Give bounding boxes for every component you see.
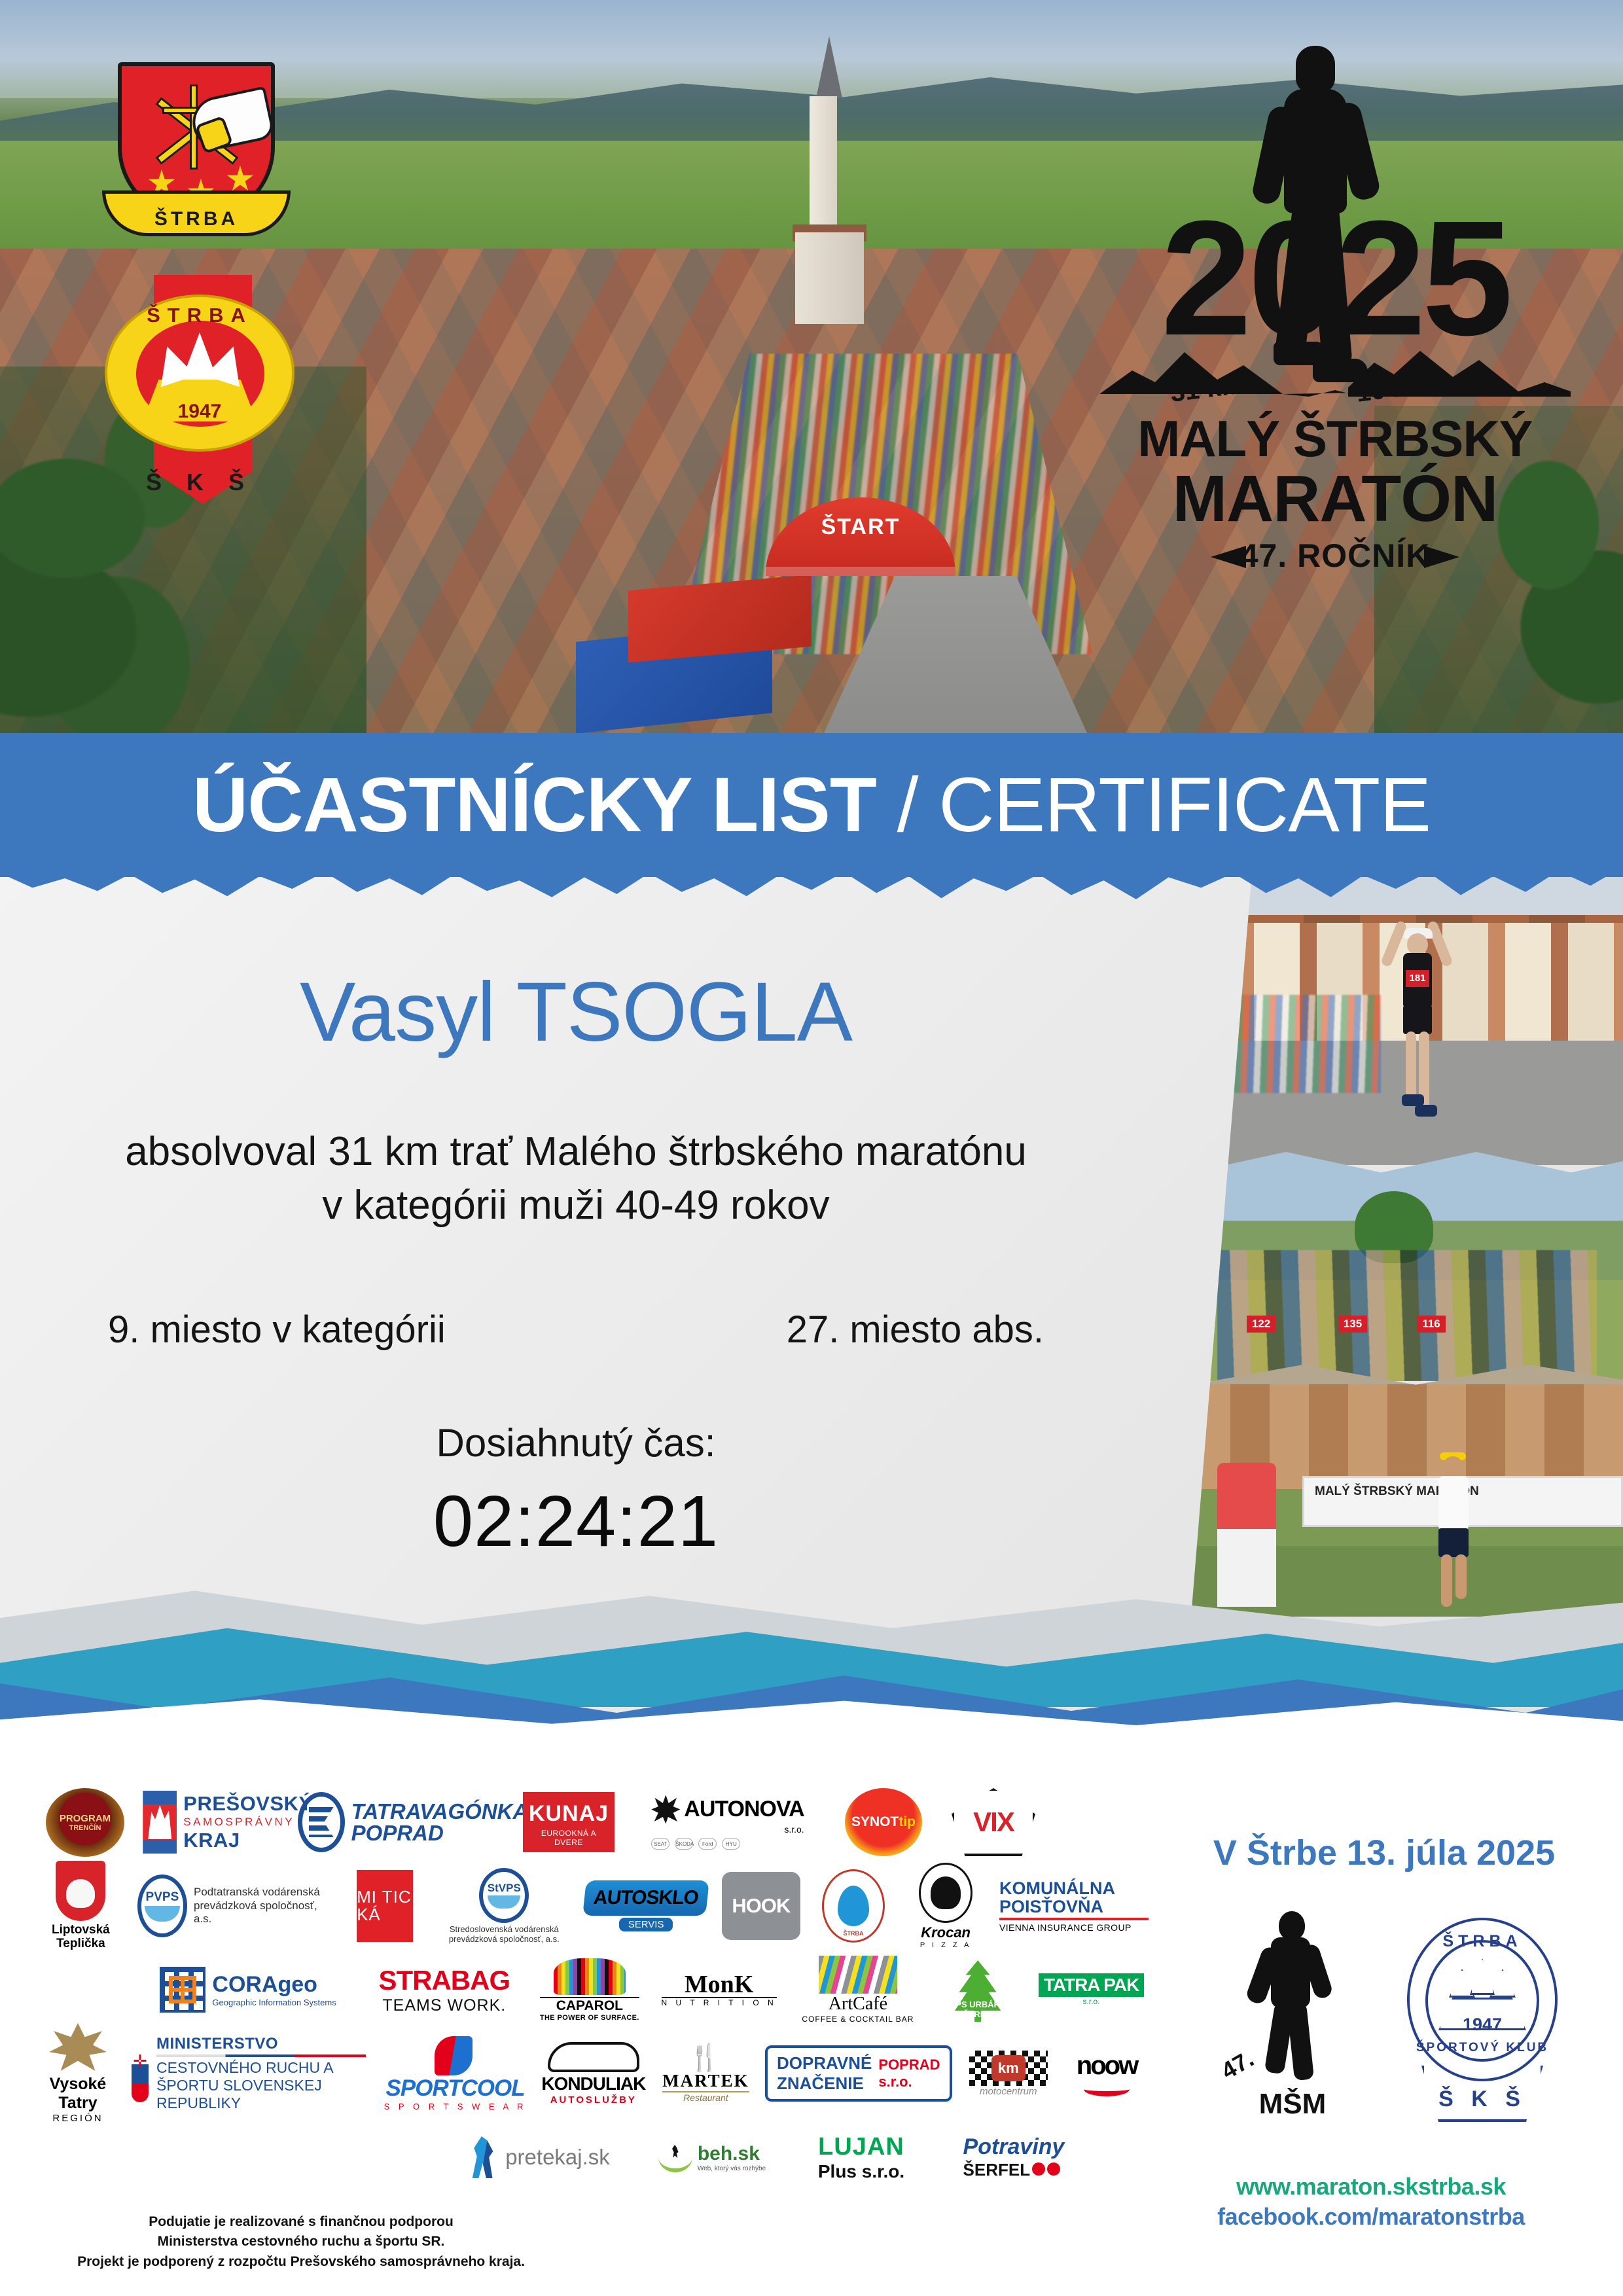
- sponsor-sub: EUROOKNÁ A DVERE: [528, 1829, 609, 1847]
- sponsor-sub: POPRAD s.r.o.: [878, 2056, 940, 2090]
- sponsor-name: km: [991, 2055, 1026, 2081]
- sponsor-sub: Geographic Information Systems: [212, 1998, 336, 2007]
- sks-year-label: 1947: [105, 401, 294, 423]
- sponsor-monk: MonK N U T R I T I O N: [655, 1953, 782, 2026]
- sponsor-name: TATRA PAK: [1039, 1973, 1145, 1997]
- sponsor-name: MonK: [662, 1972, 777, 1997]
- title-separator: /: [876, 762, 938, 848]
- sponsor-liptovska-teplicka: Liptovská Teplička: [36, 1869, 126, 1943]
- sponsor-autosklo: AUTOSKLO SERVIS: [584, 1869, 707, 1943]
- website-link[interactable]: www.maraton.skstrba.sk: [1155, 2173, 1587, 2200]
- finish-runner: [1420, 1443, 1486, 1607]
- sponsor-autonova: AUTONOVA s.r.o. SEATŠKODAFordHYU: [633, 1785, 823, 1859]
- crest-ribbon: ŠTRBA: [102, 190, 291, 236]
- finisher-runner: 181: [1387, 916, 1446, 1132]
- sponsor-sub: Podtatranská vodárenská: [194, 1886, 334, 1899]
- sponsor-sub: ŠTRBA: [824, 1930, 883, 1937]
- sponsor-name: KUNAJ: [528, 1801, 609, 1827]
- sponsor-name: PVPS: [146, 1890, 179, 1905]
- sponsor-name: ArtCafé: [802, 1994, 914, 2015]
- achievement-description: absolvoval 31 km trať Malého štrbského m…: [0, 1125, 1152, 1232]
- sponsor-row-2: Liptovská Teplička PVPS Podtatranská vod…: [36, 1864, 1149, 1948]
- bib-number: 116: [1417, 1316, 1446, 1333]
- sponsor-name: KONDULIAK: [541, 2073, 645, 2094]
- sponsor-name: STRABAG: [378, 1965, 510, 1996]
- sponsor-tatravagonka: TATRAVAGÓNKA POPRAD: [321, 1785, 505, 1859]
- finish-time-value: 02:24:21: [0, 1480, 1152, 1563]
- sponsor-sub: s.r.o.: [1039, 1997, 1145, 2006]
- sponsor-pd-strba: ŠTRBA: [815, 1869, 893, 1943]
- sponsor-name: PROGRAM: [60, 1813, 111, 1824]
- car-icon: [548, 2042, 639, 2072]
- sponsor-behsk: beh.sk Web, ktorý vás rozhýbe: [637, 2121, 787, 2194]
- sponsor-row-5: pretekaj.sk beh.sk Web, ktorý vás rozhýb…: [36, 2115, 1149, 2199]
- sponsor-sub: SAMOSPRÁVNY: [183, 1816, 312, 1829]
- participant-name: Vasyl TSOGLA: [0, 969, 1152, 1056]
- sponsor-dopravne-znacenie: DOPRAVNÉ ZNAČENIE POPRAD s.r.o.: [765, 2037, 952, 2110]
- sponsor-sub: ŠERFEL: [963, 2160, 1031, 2179]
- sponsor-row-1: PROGRAM TRENČÍN PREŠOVSKÝ SAMOSPRÁVNY KR…: [36, 1780, 1149, 1864]
- sponsor-komunalna-poistovna: KOMUNÁLNA POISŤOVŇA VIENNA INSURANCE GRO…: [999, 1869, 1149, 1943]
- bib-number: 135: [1338, 1316, 1367, 1333]
- description-line-1: absolvoval 31 km trať Malého štrbského m…: [0, 1125, 1152, 1179]
- edelweiss-icon: [49, 2023, 107, 2073]
- sponsor-spacer: [36, 1953, 132, 2026]
- sponsor-pretekaj: pretekaj.sk: [455, 2121, 625, 2194]
- disclaimer-line-3: Projekt je podporený z rozpočtu Prešovsk…: [52, 2252, 550, 2272]
- car-brand-icons: SEATŠKODAFordHYU: [651, 1838, 804, 1850]
- photo-finish-line: MALÝ ŠTRBSKÝ MARATÓN: [1191, 1365, 1623, 1617]
- sponsor-name: PS URBÁR: [950, 2000, 1005, 2009]
- sponsor-sub: Stredoslovenská vodárenská: [449, 1925, 560, 1935]
- presov-region-icon: [143, 1791, 177, 1854]
- runners-icon: [470, 2136, 499, 2178]
- certificate-content: Vasyl TSOGLA absolvoval 31 km trať Maléh…: [0, 969, 1152, 1563]
- sponsor-name: StVPS: [488, 1882, 521, 1895]
- church: [795, 36, 864, 317]
- sponsor-sub: S P O R T S W E A R: [384, 2102, 527, 2111]
- sponsor-name: SPORTCOOL: [386, 2075, 525, 2101]
- turkey-icon: [919, 1863, 972, 1923]
- sponsor-hook: HOOK: [719, 1869, 803, 1943]
- disclaimer-line-1: Podujatie je realizované s finančnou pod…: [52, 2212, 550, 2232]
- crest-label: ŠTRBA: [154, 208, 238, 233]
- sponsor-ministerstvo: MINISTERSTVO CESTOVNÉHO RUCHU A ŠPORTU S…: [132, 2037, 366, 2110]
- sponsor-name: Krocan: [919, 1924, 972, 1941]
- sponsor-name: DOPRAVNÉ ZNAČENIE: [777, 2053, 872, 2093]
- sponsor-row-3: CORAgeo Geographic Information Systems S…: [36, 1948, 1149, 2032]
- sponsor-sub: s.r.o.: [651, 1824, 804, 1835]
- sponsor-name: pretekaj.sk: [505, 2145, 610, 2170]
- sponsor-sub2: KRAJ: [183, 1829, 312, 1852]
- sponsor-lujan: LUJAN Plus s.r.o.: [799, 2121, 923, 2194]
- sponsor-synottip: SYNOTtip: [834, 1785, 933, 1859]
- elephant-icon: [554, 1958, 626, 1995]
- star-burst-icon: [651, 1795, 680, 1824]
- sponsor-name: TATRAVAGÓNKA: [351, 1801, 529, 1822]
- cutlery-icon: 🍴: [662, 2045, 749, 2071]
- sponsor-konduliak: KONDULIAK AUTOSLUŽBY: [541, 2037, 647, 2110]
- sponsor-name: Liptovská: [52, 1924, 110, 1937]
- sponsor-sub: TRENČÍN: [69, 1824, 101, 1832]
- sponsor-logos: PROGRAM TRENČÍN PREŠOVSKÝ SAMOSPRÁVNY KR…: [36, 1780, 1149, 2199]
- title-en: CERTIFICATE: [938, 762, 1431, 848]
- divider: [999, 1918, 1149, 1920]
- sponsor-sub: N U T R I T I O N: [662, 1997, 777, 2007]
- seal-bottom-label: Š K Š: [1400, 2087, 1564, 2112]
- sponsor-stvps: StVPS Stredoslovenská vodárenská prevádz…: [435, 1869, 573, 1943]
- sponsor-name: Vysoké Tatry: [36, 2075, 120, 2113]
- sks-bottom-label: Š K Š: [105, 469, 294, 496]
- sponsor-sub: Teplička: [52, 1937, 110, 1951]
- photo-collage: 181 122 135 116 MALÝ ŠTRBSKÝ MARATÓN: [1191, 877, 1623, 1617]
- event-date: V Štrbe 13. júla 2025: [1181, 1833, 1587, 1873]
- bib-number: 122: [1247, 1316, 1275, 1333]
- sponsor-sub2: prevádzková spoločnosť, a.s.: [449, 1935, 560, 1945]
- disclaimer-line-2: Ministerstva cestovného ruchu a športu S…: [52, 2232, 550, 2251]
- sponsor-noow: noow: [1065, 2037, 1149, 2110]
- event-edition: 47. ROČNÍK: [1086, 537, 1584, 575]
- sponsor-sub: REGIÓN: [36, 2113, 120, 2124]
- liptovska-crest-icon: [56, 1861, 105, 1921]
- sponsor-caparol: CAPAROL THE POWER OF SURFACE.: [535, 1953, 643, 2026]
- sponsor-sub: TEAMS WORK.: [378, 1996, 510, 2015]
- runner-silhouette-icon: [1250, 1911, 1335, 2075]
- divider: [156, 2054, 366, 2057]
- sponsor-sub: Web, ktorý vás rozhýbe: [698, 2165, 766, 2172]
- sponsor-krocan-pizza: Krocan P I Z Z A: [904, 1869, 988, 1943]
- sks-top-label: ŠTRBA: [105, 304, 294, 327]
- church-spire-icon: [816, 36, 842, 98]
- sponsor-strabag: STRABAG TEAMS WORK.: [365, 1953, 524, 2026]
- strba-coat-of-arms: ŠTRBA: [118, 62, 275, 252]
- sponsor-martek: 🍴 MARTEK Restaurant: [658, 2037, 753, 2110]
- distance-row: 31 km 10 km: [1086, 334, 1584, 412]
- sponsor-name: MI TIC KÁ: [357, 1888, 413, 1923]
- footer: V Štrbe 13. júla 2025 PROGRAM TRENČÍN PR…: [0, 1728, 1623, 2296]
- finish-time-label: Dosiahnutý čas:: [0, 1420, 1152, 1465]
- photo-finisher: 181: [1191, 877, 1623, 1165]
- sks-club-logo: ŠTRBA 1947 Š K Š: [105, 275, 294, 511]
- sponsor-sub: Restaurant: [662, 2091, 749, 2103]
- sponsor-pvps: PVPS Podtatranská vodárenská prevádzková…: [137, 1869, 334, 1943]
- event-name-line1: MALÝ ŠTRBSKÝ: [1086, 409, 1584, 469]
- placements: 9. miesto v kategórii 27. miesto abs.: [0, 1308, 1152, 1352]
- hero-photo: ŠTART ŠTRBA ŠTRBA 1947 Š K Š: [0, 0, 1623, 746]
- water-drop-icon: [838, 1886, 869, 1926]
- seal-year-label: 1947: [1400, 2015, 1564, 2035]
- sponsor-sub: CESTOVNÉHO RUCHU A ŠPORTU SLOVENSKEJ REP…: [156, 2059, 366, 2111]
- sponsor-name: noow: [1077, 2051, 1137, 2081]
- sponsor-sub: motocentrum: [969, 2086, 1048, 2097]
- sponsor-corageo: CORAgeo Geographic Information Systems: [143, 1953, 353, 2026]
- sponsor-vysoke-tatry: Vysoké Tatry REGIÓN: [36, 2037, 120, 2110]
- sponsor-sub2: prevádzková spoločnosť, a.s.: [194, 1899, 334, 1926]
- sponsor-sub: tip: [899, 1814, 916, 1829]
- sponsor-kunaj: KUNAJ EUROOKNÁ A DVERE: [516, 1785, 621, 1859]
- stvps-icon: StVPS: [479, 1868, 529, 1923]
- seal-mid-label: ŠPORTOVÝ KLUB: [1400, 2041, 1564, 2055]
- sponsor-sub: SERVIS: [619, 1918, 673, 1931]
- sponsor-name: beh.sk: [698, 2143, 760, 2164]
- sponsor-name: PREŠOVSKÝ: [183, 1792, 312, 1816]
- sponsor-km-motocentrum: km motocentrum: [964, 2037, 1054, 2110]
- sponsor-artcafe: ArtCafé COFFEE & COCKTAIL BAR: [794, 1953, 921, 2026]
- msm-logo: 47. MŠM: [1217, 1911, 1368, 2127]
- sponsor-presovsky-kraj: PREŠOVSKÝ SAMOSPRÁVNY KRAJ: [146, 1785, 310, 1859]
- sponsor-sub: VIENNA INSURANCE GROUP: [999, 1922, 1149, 1933]
- marathon-event-logo: 2025 31 km 10 km MALÝ ŠTRBSKÝ MARATÓN 47…: [1086, 46, 1584, 583]
- sponsor-name: KOMUNÁLNA POISŤOVŇA: [999, 1879, 1149, 1916]
- certificate-title-band: ÚČASTNÍCKY LIST / CERTIFICATE: [0, 733, 1623, 877]
- sponsor-miticka: MI TIC KÁ: [346, 1869, 424, 1943]
- mountain-icon: [151, 332, 249, 398]
- sponsor-tatrapak: TATRA PAK s.r.o.: [1034, 1953, 1149, 2026]
- sks-seal-logo: ŠTRBA 1947 ŠPORTOVÝ KLUB Š K Š: [1400, 1911, 1564, 2127]
- sponsor-sub: P I Z Z A: [919, 1941, 972, 1949]
- sponsor-sub: THE POWER OF SURFACE.: [540, 2014, 639, 2022]
- sponsor-name: MINISTERSTVO: [156, 2036, 366, 2053]
- checkered-flag-icon: km: [969, 2051, 1048, 2086]
- sponsor-sub: COFFEE & COCKTAIL BAR: [802, 2015, 914, 2024]
- msm-abbreviation: MŠM: [1217, 2088, 1368, 2121]
- church-body: [795, 232, 864, 324]
- sponsor-ps-urbar-strba: PS URBÁR ŠTRBA: [933, 1953, 1022, 2026]
- pvps-icon: PVPS: [137, 1874, 187, 1937]
- crest-star-icon: [226, 166, 254, 193]
- bib-number: 181: [1406, 970, 1429, 987]
- start-arch-label: ŠTART: [766, 514, 955, 540]
- sponsor-name: SYNOT: [851, 1814, 899, 1829]
- sponsor-name: CORAgeo: [212, 1972, 317, 1997]
- artcafe-bars-icon: [819, 1956, 897, 1994]
- tatravagonka-e-icon: [298, 1792, 345, 1852]
- runner-arc-icon: [658, 2142, 692, 2172]
- funding-disclaimer: Podujatie je realizované s finančnou pod…: [52, 2212, 550, 2272]
- sponsor-name: VIX: [973, 1806, 1014, 1838]
- absolute-place: 27. miesto abs.: [787, 1308, 1044, 1352]
- facebook-link[interactable]: facebook.com/maratonstrba: [1155, 2203, 1587, 2231]
- contact-links: www.maraton.skstrba.sk facebook.com/mara…: [1155, 2173, 1587, 2231]
- sportcool-mark-icon: [435, 2036, 473, 2075]
- sponsor-name: HOOK: [732, 1894, 790, 1918]
- sponsor-sportcool: SPORTCOOL S P O R T S W E A R: [378, 2037, 528, 2110]
- slovak-coat-of-arms-icon: [132, 2045, 149, 2102]
- sponsor-sub: AUTOSLUŽBY: [541, 2094, 645, 2106]
- photo-group-run: 122 135 116: [1191, 1152, 1623, 1381]
- sponsor-sub: ŠTRBA: [950, 2009, 1005, 2019]
- seal-top-label: ŠTRBA: [1400, 1932, 1564, 1951]
- sponsor-name: AUTONOVA: [684, 1797, 804, 1822]
- sponsor-name: AUTOSKLO: [593, 1887, 700, 1909]
- title-sk: ÚČASTNÍCKY LIST: [192, 762, 876, 848]
- mountain-range-icon: [1086, 334, 1584, 412]
- event-name-line2: MARATÓN: [1086, 461, 1584, 537]
- sponsor-name: LUJAN: [818, 2133, 904, 2161]
- smile-icon: [1084, 2082, 1130, 2096]
- grid-icon: [160, 1967, 205, 2013]
- sponsor-sub: Plus s.r.o.: [818, 2161, 904, 2182]
- sponsor-name: CAPAROL: [540, 1997, 639, 2014]
- category-place: 9. miesto v kategórii: [108, 1308, 446, 1352]
- wave-divider: [0, 1584, 1623, 1748]
- sponsor-sub: POPRAD: [351, 1822, 529, 1844]
- description-line-2: v kategórii muži 40-49 rokov: [0, 1179, 1152, 1232]
- sponsor-vix: VIX: [944, 1785, 1043, 1859]
- sponsor-program-trencin: PROGRAM TRENČÍN: [36, 1785, 134, 1859]
- sponsor-name: MARTEK: [662, 2071, 749, 2091]
- dots-icon: [1030, 2160, 1060, 2180]
- sponsor-row-4: Vysoké Tatry REGIÓN MINISTERSTVO CESTOVN…: [36, 2032, 1149, 2115]
- sponsor-name: Potraviny: [963, 2134, 1065, 2160]
- sponsor-potraviny-serfel: Potraviny ŠERFEL: [935, 2121, 1092, 2194]
